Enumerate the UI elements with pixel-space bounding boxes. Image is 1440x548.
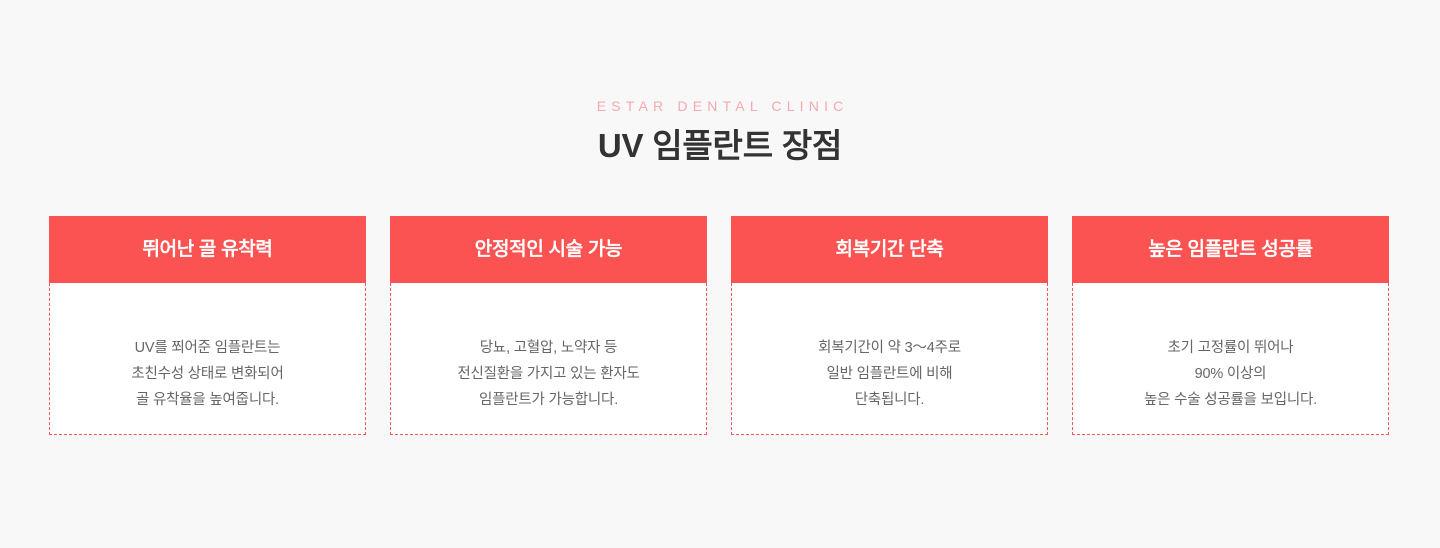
benefit-card: 안정적인 시술 가능 당뇨, 고혈압, 노약자 등 전신질환을 가지고 있는 환… <box>390 216 707 435</box>
benefit-card-description: 당뇨, 고혈압, 노약자 등 전신질환을 가지고 있는 환자도 임플란트가 가능… <box>457 335 639 413</box>
benefit-card-row: 뛰어난 골 유착력 UV를 쬐어준 임플란트는 초친수성 상태로 변화되어 골 … <box>49 216 1391 435</box>
benefit-card: 높은 임플란트 성공률 초기 고정률이 뛰어나 90% 이상의 높은 수술 성공… <box>1072 216 1389 435</box>
benefit-card: 회복기간 단축 회복기간이 약 3〜4주로 일반 임플란트에 비해 단축됩니다. <box>731 216 1048 435</box>
benefit-card-title: 뛰어난 골 유착력 <box>142 237 272 263</box>
benefit-card-body: 초기 고정률이 뛰어나 90% 이상의 높은 수술 성공률을 보입니다. <box>1072 283 1389 435</box>
benefit-card-title: 안정적인 시술 가능 <box>475 237 622 263</box>
benefit-card-description: 초기 고정률이 뛰어나 90% 이상의 높은 수술 성공률을 보입니다. <box>1144 335 1317 413</box>
page-root: ESTAR DENTAL CLINIC UV 임플란트 장점 뛰어난 골 유착력… <box>0 0 1440 548</box>
benefit-card-body: 당뇨, 고혈압, 노약자 등 전신질환을 가지고 있는 환자도 임플란트가 가능… <box>390 283 707 435</box>
benefit-card-description: 회복기간이 약 3〜4주로 일반 임플란트에 비해 단축됩니다. <box>818 335 961 413</box>
benefit-card-header: 뛰어난 골 유착력 <box>49 216 366 283</box>
benefit-card-title: 회복기간 단축 <box>835 237 943 263</box>
benefit-card-header: 높은 임플란트 성공률 <box>1072 216 1389 283</box>
benefit-card-description: UV를 쬐어준 임플란트는 초친수성 상태로 변화되어 골 유착율을 높여줍니다… <box>131 335 283 413</box>
benefit-card-body: 회복기간이 약 3〜4주로 일반 임플란트에 비해 단축됩니다. <box>731 283 1048 435</box>
clinic-eyebrow-label: ESTAR DENTAL CLINIC <box>0 96 1440 116</box>
benefit-card-title: 높은 임플란트 성공률 <box>1148 237 1313 263</box>
benefit-card-header: 회복기간 단축 <box>731 216 1048 283</box>
page-title: UV 임플란트 장점 <box>0 125 1440 167</box>
benefit-card-header: 안정적인 시술 가능 <box>390 216 707 283</box>
benefit-card-body: UV를 쬐어준 임플란트는 초친수성 상태로 변화되어 골 유착율을 높여줍니다… <box>49 283 366 435</box>
benefit-card: 뛰어난 골 유착력 UV를 쬐어준 임플란트는 초친수성 상태로 변화되어 골 … <box>49 216 366 435</box>
page-heading: ESTAR DENTAL CLINIC UV 임플란트 장점 <box>0 96 1440 189</box>
